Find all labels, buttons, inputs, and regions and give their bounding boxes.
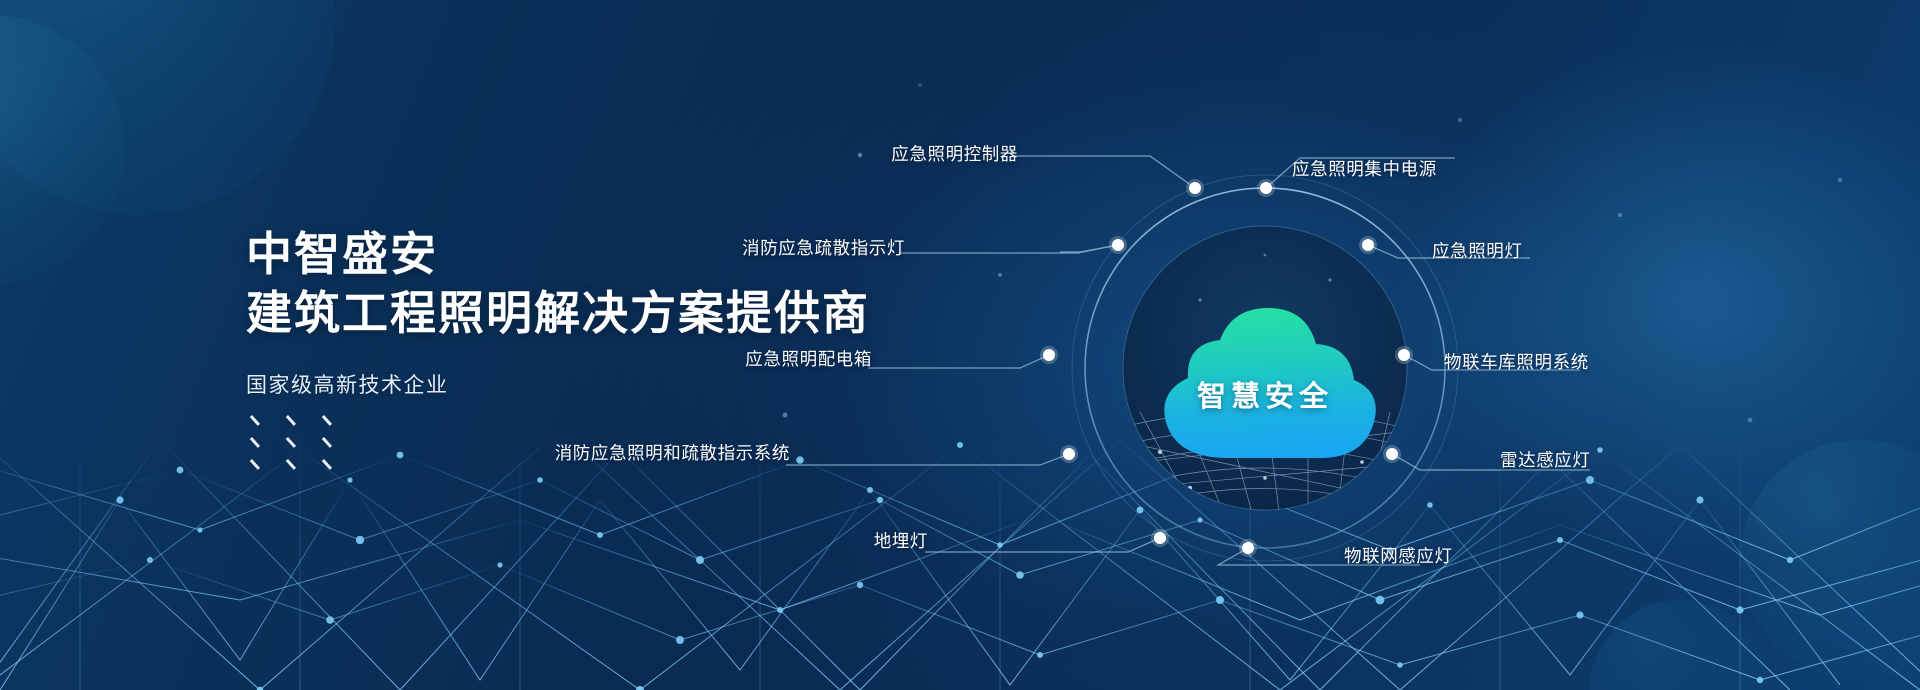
diagram-label-n5[interactable]: 应急照明配电箱 bbox=[745, 346, 872, 371]
tick-mark bbox=[252, 437, 263, 448]
tick-mark bbox=[252, 415, 263, 426]
diagram-label-n2[interactable]: 应急照明集中电源 bbox=[1292, 156, 1437, 181]
tick-mark bbox=[252, 459, 263, 470]
tick-mark bbox=[324, 437, 335, 448]
subtitle: 国家级高新技术企业 bbox=[246, 369, 870, 399]
tick-mark bbox=[324, 459, 335, 470]
smart-safety-cloud: 智慧安全 bbox=[1136, 300, 1394, 463]
tick-mark bbox=[288, 415, 299, 426]
hero-banner: 智慧安全 中智盛安 建筑工程照明解决方案提供商 国家级高新技术企业 应急照明控制… bbox=[0, 0, 1920, 690]
tick-mark bbox=[288, 459, 299, 470]
diagram-label-n3[interactable]: 消防应急疏散指示灯 bbox=[742, 235, 905, 260]
diagram-label-n8[interactable]: 雷达感应灯 bbox=[1500, 447, 1591, 472]
cloud-label: 智慧安全 bbox=[1136, 300, 1394, 458]
tick-mark bbox=[288, 437, 299, 448]
diagram-label-n10[interactable]: 物联网感应灯 bbox=[1344, 543, 1453, 568]
diagram-label-n6[interactable]: 物联车库照明系统 bbox=[1444, 349, 1589, 374]
tick-mark bbox=[324, 415, 335, 426]
headline-line-2: 建筑工程照明解决方案提供商 bbox=[246, 284, 870, 343]
diagram-label-n4[interactable]: 应急照明灯 bbox=[1432, 238, 1523, 263]
decorative-tick-grid bbox=[252, 415, 362, 481]
diagram-label-n1[interactable]: 应急照明控制器 bbox=[891, 141, 1018, 166]
diagram-label-n7[interactable]: 消防应急照明和疏散指示系统 bbox=[555, 440, 790, 465]
diagram-label-n9[interactable]: 地埋灯 bbox=[874, 528, 928, 553]
